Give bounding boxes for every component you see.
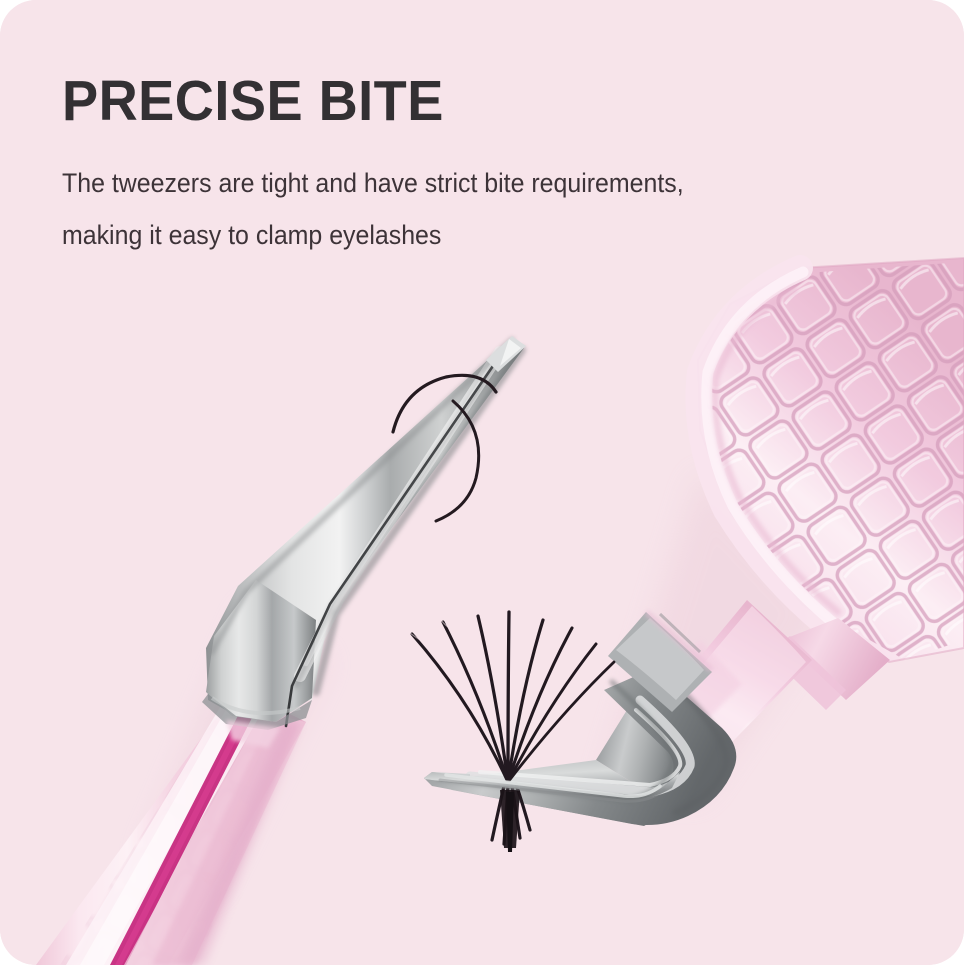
product-photo [0, 0, 964, 965]
product-feature-card: PRECISE BITE The tweezers are tight and … [0, 0, 964, 965]
